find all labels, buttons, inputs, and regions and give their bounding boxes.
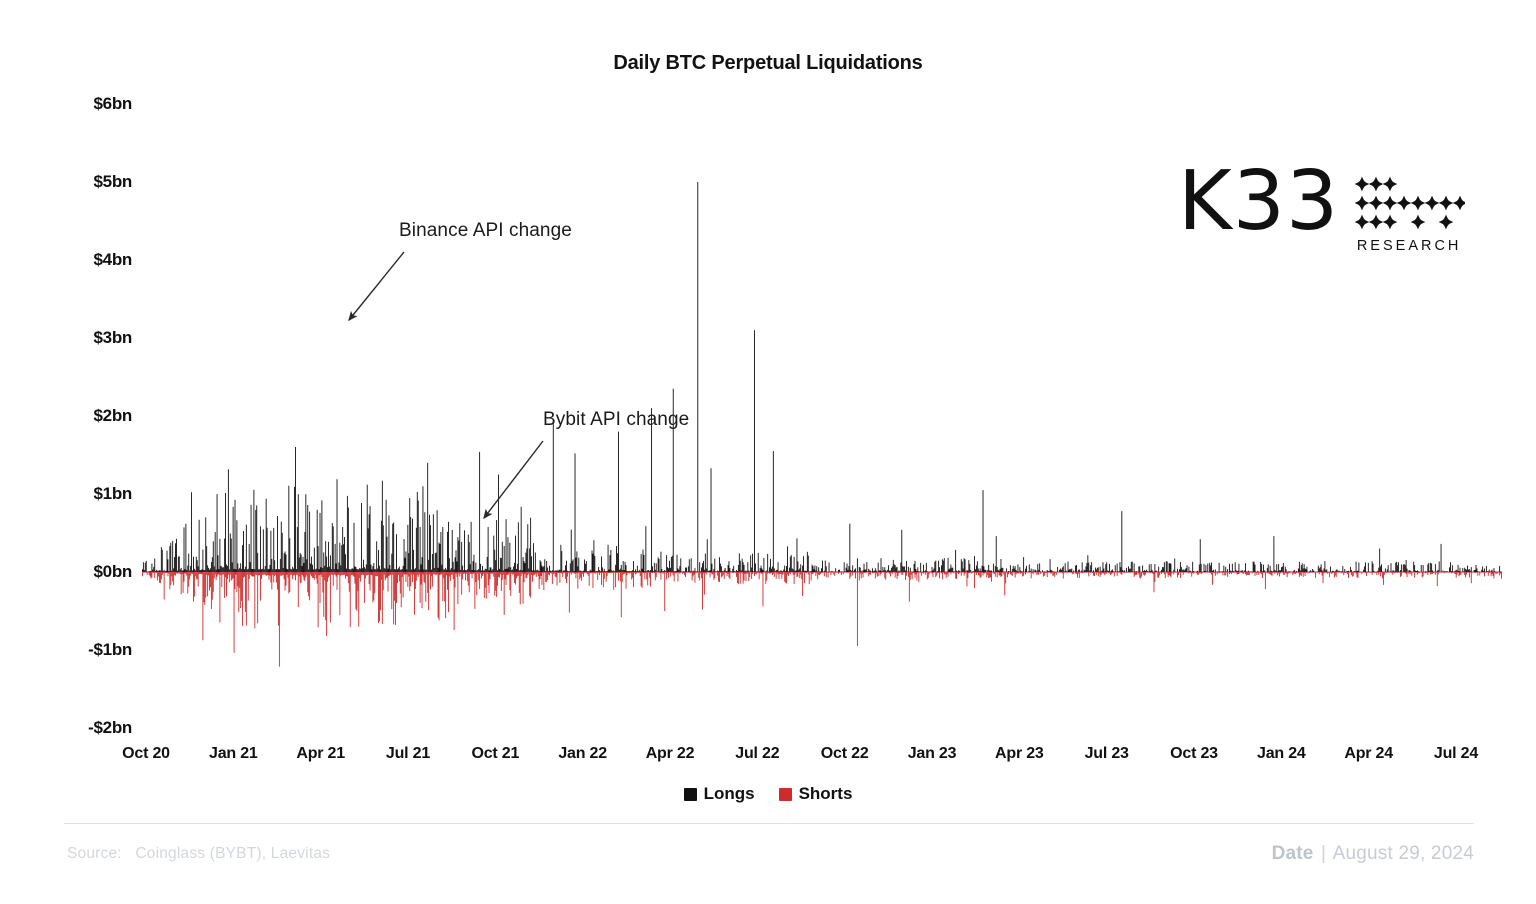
chart-bar <box>236 572 237 592</box>
chart-bar <box>1204 572 1205 573</box>
chart-bar <box>167 551 168 572</box>
chart-bar <box>979 571 980 572</box>
chart-bar <box>1169 563 1170 572</box>
chart-bar <box>1181 572 1182 573</box>
chart-bar <box>1080 572 1081 573</box>
chart-bar <box>1337 572 1338 573</box>
chart-bar <box>789 568 790 572</box>
chart-bar <box>1201 572 1202 574</box>
chart-bar <box>610 572 611 573</box>
k33-mark-column: RESEARCH <box>1353 168 1465 254</box>
chart-bar <box>148 571 149 572</box>
chart-bar <box>1301 565 1302 572</box>
chart-bar <box>919 572 920 573</box>
chart-bar <box>1183 572 1184 575</box>
chart-bar <box>593 572 594 573</box>
chart-bar <box>812 572 813 574</box>
chart-bar <box>1170 563 1171 572</box>
chart-bar <box>1232 564 1233 572</box>
annotation-arrows <box>349 252 543 518</box>
chart-bar <box>212 572 213 600</box>
chart-bar <box>278 569 279 572</box>
chart-bar <box>577 566 578 572</box>
chart-bar <box>952 572 953 573</box>
chart-bar <box>1397 565 1398 572</box>
chart-bar <box>1358 571 1359 573</box>
chart-bar <box>147 572 148 575</box>
chart-bar <box>1431 564 1432 572</box>
chart-bar <box>1157 572 1158 577</box>
chart-bar <box>218 572 219 574</box>
chart-bar <box>820 571 821 572</box>
chart-bar <box>375 569 376 572</box>
chart-bar <box>694 572 695 575</box>
chart-bar <box>1066 571 1067 572</box>
chart-bar <box>234 569 235 572</box>
chart-bar <box>982 572 983 573</box>
chart-bar <box>1325 570 1326 572</box>
chart-bar <box>884 567 885 572</box>
chart-bar <box>700 572 701 574</box>
chart-bar <box>876 572 877 573</box>
chart-bar <box>750 555 751 572</box>
chart-bar <box>1073 572 1074 574</box>
chart-bar <box>260 572 261 601</box>
chart-legend: Longs Shorts <box>0 784 1536 804</box>
chart-bar <box>818 567 819 572</box>
chart-bar <box>432 572 433 587</box>
chart-bar <box>1279 570 1280 572</box>
chart-bar <box>1428 572 1429 573</box>
chart-bar <box>523 557 524 572</box>
chart-bar <box>1416 572 1417 573</box>
chart-bar <box>859 567 860 572</box>
chart-bar <box>917 572 918 573</box>
chart-bar <box>1223 566 1224 572</box>
chart-bar <box>637 572 638 573</box>
chart-bar <box>807 572 808 573</box>
chart-bar <box>738 565 739 572</box>
chart-bar <box>649 571 650 572</box>
chart-bar <box>1052 571 1053 572</box>
chart-bar <box>931 572 932 573</box>
chart-bar <box>1133 572 1134 573</box>
chart-bar <box>1150 572 1151 573</box>
chart-bar <box>655 570 656 572</box>
chart-bar <box>933 572 934 573</box>
chart-bar <box>991 572 992 582</box>
chart-bar <box>472 572 473 578</box>
chart-bar <box>1398 562 1399 572</box>
chart-bar <box>1489 572 1490 573</box>
chart-bar <box>1026 566 1027 572</box>
chart-bar <box>1435 572 1436 575</box>
chart-bar <box>212 557 213 572</box>
chart-bar <box>1086 566 1087 572</box>
chart-bar <box>181 572 182 594</box>
chart-bar <box>482 566 483 572</box>
chart-bar <box>528 572 529 574</box>
chart-bar <box>190 572 191 576</box>
chart-bar <box>765 572 766 584</box>
chart-bar <box>513 572 514 574</box>
chart-bar <box>1064 572 1065 573</box>
chart-bar <box>721 566 722 572</box>
legend-item-shorts[interactable]: Shorts <box>779 784 853 804</box>
chart-bar <box>465 572 466 580</box>
chart-bar <box>633 572 634 587</box>
chart-bar <box>1321 564 1322 572</box>
chart-bar <box>501 558 502 572</box>
chart-bar <box>523 572 524 604</box>
chart-bar <box>647 572 648 585</box>
chart-bar <box>236 572 237 575</box>
chart-bar <box>508 537 509 572</box>
chart-bar <box>1426 572 1427 573</box>
chart-bar <box>224 572 225 598</box>
chart-bar <box>152 572 153 573</box>
chart-bar <box>1483 572 1484 573</box>
chart-bar <box>619 572 620 573</box>
chart-bar <box>859 572 860 580</box>
chart-bar <box>276 572 277 583</box>
chart-bar <box>847 563 848 572</box>
chart-bar <box>473 572 474 574</box>
chart-bar <box>728 572 729 574</box>
chart-bar <box>471 522 472 572</box>
chart-bar <box>634 572 635 573</box>
chart-bar <box>1130 572 1131 573</box>
chart-bar <box>1095 572 1096 573</box>
chart-bar <box>319 569 320 572</box>
chart-bar <box>343 544 344 572</box>
chart-bar <box>164 572 165 599</box>
chart-bar <box>1324 561 1325 572</box>
chart-bar <box>556 572 557 577</box>
chart-bar <box>856 572 857 573</box>
chart-bar <box>525 563 526 572</box>
chart-bar <box>1305 572 1306 576</box>
chart-bar <box>971 572 972 573</box>
chart-bar <box>1293 572 1294 574</box>
chart-bar <box>1123 571 1124 572</box>
chart-bar <box>759 572 760 579</box>
chart-bar <box>1344 572 1345 573</box>
chart-bar <box>321 500 322 572</box>
chart-bar <box>729 572 730 578</box>
chart-bar <box>1382 571 1383 572</box>
chart-bar <box>1132 572 1133 573</box>
chart-bar <box>205 572 206 597</box>
chart-bar <box>386 500 387 572</box>
legend-swatch-longs <box>684 788 697 801</box>
chart-bar <box>1482 572 1483 573</box>
chart-bar <box>746 570 747 572</box>
chart-bar <box>428 560 429 572</box>
chart-bar <box>289 572 290 592</box>
chart-bar <box>536 572 537 577</box>
chart-bar <box>1220 572 1221 573</box>
chart-bar <box>759 571 760 572</box>
chart-bar <box>640 571 641 572</box>
chart-bar <box>810 572 811 573</box>
chart-bar <box>653 571 654 572</box>
chart-bar <box>478 569 479 572</box>
chart-bar <box>616 572 617 573</box>
chart-bar <box>1028 572 1029 573</box>
chart-bar <box>565 565 566 572</box>
chart-bar <box>243 572 244 578</box>
chart-bar <box>538 572 539 576</box>
chart-bar <box>1375 572 1376 573</box>
chart-bar <box>797 572 798 577</box>
chart-bar <box>492 569 493 572</box>
chart-bar <box>844 572 845 573</box>
chart-bar <box>714 559 715 572</box>
chart-bar <box>699 562 700 572</box>
chart-bar <box>1467 572 1468 573</box>
chart-bar <box>798 570 799 572</box>
chart-bar <box>749 571 750 572</box>
chart-bar <box>1144 572 1145 576</box>
chart-bar <box>829 562 830 572</box>
chart-bar <box>786 566 787 572</box>
chart-bar <box>678 572 679 582</box>
chart-bar <box>313 572 314 578</box>
chart-bar <box>1364 566 1365 572</box>
chart-bar <box>645 572 646 573</box>
chart-bar <box>729 568 730 572</box>
chart-bar <box>203 570 204 572</box>
chart-bar <box>1085 570 1086 572</box>
chart-bar <box>926 572 927 573</box>
chart-bar <box>1077 572 1078 578</box>
chart-bar <box>1428 563 1429 572</box>
chart-bar <box>1468 570 1469 572</box>
chart-bar <box>1251 571 1252 572</box>
chart-bar <box>662 572 663 574</box>
chart-bar <box>536 570 537 572</box>
chart-bar <box>1401 564 1402 572</box>
chart-bar <box>749 572 750 577</box>
chart-bar <box>1483 571 1484 572</box>
chart-bar <box>1279 572 1280 577</box>
chart-bar <box>554 572 555 574</box>
chart-bar <box>668 568 669 572</box>
chart-bar <box>1116 572 1117 573</box>
chart-bar <box>1227 569 1228 572</box>
chart-bar <box>949 569 950 572</box>
chart-bar <box>467 569 468 572</box>
chart-bar <box>1025 569 1026 572</box>
chart-bar <box>710 572 711 577</box>
chart-bar <box>311 572 312 576</box>
chart-bar <box>1359 572 1360 573</box>
y-tick-label: -$2bn <box>12 718 132 738</box>
chart-bar <box>1135 572 1136 575</box>
chart-bar <box>146 561 147 572</box>
chart-bar <box>1096 572 1097 575</box>
chart-bar <box>517 564 518 572</box>
chart-bar <box>807 552 808 572</box>
chart-bar <box>450 570 451 572</box>
chart-bar <box>1481 572 1482 573</box>
chart-bar <box>1469 572 1470 578</box>
chart-bar <box>882 572 883 573</box>
chart-bar <box>165 572 166 573</box>
chart-bar <box>908 567 909 572</box>
chart-bar <box>1045 572 1046 573</box>
chart-bar <box>1035 570 1036 572</box>
chart-bar <box>1353 572 1354 576</box>
chart-bar <box>626 572 627 589</box>
chart-bar <box>1174 572 1175 573</box>
chart-bar <box>782 571 783 572</box>
chart-bar <box>1006 568 1007 572</box>
chart-bar <box>977 561 978 572</box>
chart-bar <box>1452 565 1453 572</box>
chart-bar <box>420 572 421 603</box>
chart-bar <box>718 572 719 582</box>
chart-bar <box>970 572 971 573</box>
chart-bar <box>1399 571 1400 572</box>
chart-bar <box>367 572 368 575</box>
chart-bar <box>185 569 186 572</box>
chart-bar <box>669 572 670 573</box>
chart-bar <box>989 572 990 578</box>
chart-bar <box>857 558 858 572</box>
chart-bar <box>1182 572 1183 573</box>
chart-bar <box>438 568 439 572</box>
chart-bar <box>330 572 331 622</box>
chart-bar <box>809 571 810 572</box>
chart-bar <box>727 572 728 576</box>
chart-bar <box>1209 563 1210 572</box>
chart-bar <box>680 572 681 573</box>
footer-source-label: Source: <box>67 845 122 862</box>
chart-bar <box>349 572 350 592</box>
chart-bar <box>486 569 487 572</box>
chart-bar <box>1495 572 1496 574</box>
chart-bar <box>385 569 386 572</box>
chart-bar <box>819 572 820 575</box>
chart-bar <box>221 567 222 572</box>
chart-bar <box>1050 572 1051 573</box>
chart-bar <box>395 569 396 572</box>
chart-bar <box>373 572 374 601</box>
chart-bar <box>1088 572 1089 576</box>
chart-bar <box>417 572 418 575</box>
chart-bar <box>327 572 328 582</box>
chart-bar <box>1440 572 1441 573</box>
chart-bar <box>508 572 509 574</box>
chart-bar <box>1200 572 1201 573</box>
chart-bar <box>540 572 541 579</box>
chart-bar <box>704 572 705 595</box>
chart-bar <box>1122 572 1123 573</box>
chart-bar <box>882 567 883 572</box>
chart-bar <box>981 572 982 577</box>
chart-bar <box>570 563 571 572</box>
chart-bar <box>1448 572 1449 573</box>
chart-bar <box>454 572 455 630</box>
chart-bar <box>253 572 254 576</box>
chart-bar <box>1035 572 1036 573</box>
chart-bar <box>968 560 969 572</box>
chart-bar <box>671 557 672 572</box>
chart-bar <box>747 562 748 572</box>
chart-bar <box>358 569 359 572</box>
chart-bar <box>442 572 443 601</box>
chart-bar <box>687 572 688 573</box>
chart-bar <box>1049 572 1050 573</box>
chart-bar <box>711 468 712 572</box>
chart-bar <box>317 572 318 584</box>
chart-bar <box>736 570 737 572</box>
chart-bar <box>1355 572 1356 573</box>
arrow-binance <box>349 252 404 320</box>
chart-bar <box>519 570 520 572</box>
chart-bar <box>534 572 535 575</box>
chart-bar <box>1315 572 1316 578</box>
chart-bar <box>1488 572 1489 576</box>
chart-bar <box>510 567 511 572</box>
chart-bar <box>567 571 568 572</box>
chart-bar <box>1188 567 1189 572</box>
chart-bar <box>794 572 795 584</box>
chart-bar <box>181 568 182 572</box>
chart-bar <box>883 570 884 572</box>
chart-bar <box>235 500 236 572</box>
chart-bar <box>1232 572 1233 573</box>
chart-bar <box>451 572 452 575</box>
chart-bar <box>891 572 892 573</box>
chart-bar <box>1251 572 1252 573</box>
chart-bar <box>661 572 662 573</box>
chart-bar <box>458 572 459 574</box>
chart-bar <box>361 572 362 575</box>
chart-bar <box>1143 571 1144 572</box>
chart-bar <box>910 572 911 580</box>
chart-bar <box>996 572 997 573</box>
chart-bar <box>560 545 561 572</box>
legend-item-longs[interactable]: Longs <box>684 784 755 804</box>
chart-bar <box>949 572 950 573</box>
chart-bar <box>885 570 886 572</box>
chart-bar <box>1323 572 1324 583</box>
chart-bar <box>239 572 240 588</box>
chart-bar <box>593 540 594 572</box>
chart-bar <box>1052 571 1053 572</box>
chart-bar <box>308 569 309 572</box>
chart-bar <box>957 572 958 573</box>
chart-bar <box>937 571 938 572</box>
chart-bar <box>1470 572 1471 573</box>
chart-bar <box>446 572 447 575</box>
chart-bar <box>925 572 926 575</box>
chart-bar <box>514 572 515 583</box>
chart-bar <box>817 572 818 579</box>
chart-bar <box>425 572 426 602</box>
footer-date-separator: | <box>1319 843 1328 864</box>
chart-bar <box>583 572 584 577</box>
chart-bar <box>407 572 408 587</box>
chart-bar <box>1322 570 1323 572</box>
chart-bar <box>264 572 265 575</box>
chart-bar <box>1264 570 1265 572</box>
chart-bar <box>624 570 625 572</box>
chart-bar <box>1321 572 1322 573</box>
